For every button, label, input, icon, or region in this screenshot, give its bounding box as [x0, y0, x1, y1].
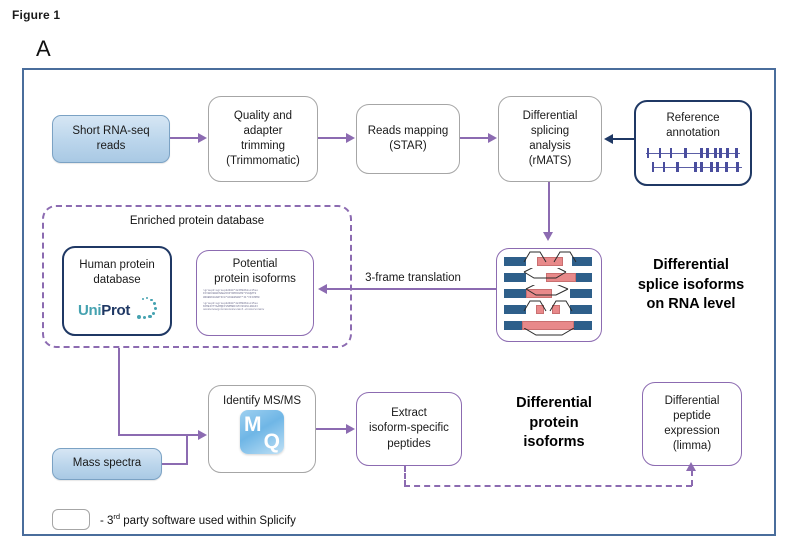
- splice-row-4: [504, 305, 592, 314]
- node-potential-protein-isoforms-label: Potential protein isoforms: [210, 251, 300, 287]
- edge-reads-to-trimming-arrowhead: [198, 133, 207, 143]
- edge-extract-to-limma-horizontal: [404, 485, 692, 487]
- splice-row-1: [504, 257, 592, 266]
- edge-three-frame-translation-arrowhead: [318, 284, 327, 294]
- edge-identify-to-extract-arrowhead: [346, 424, 355, 434]
- node-human-protein-database-label: Human protein database: [75, 248, 158, 288]
- uniprot-logo-dots: [131, 297, 157, 323]
- legend-text: - 3rd party software used within Splicif…: [100, 512, 296, 527]
- splice-row-2: [504, 273, 592, 282]
- maxquant-logo-q: Q: [264, 431, 280, 452]
- edge-mapping-to-splicing-arrowhead: [488, 133, 497, 143]
- node-extract-isoform-specific-peptides-label: Extract isoform-specific peptides: [365, 406, 453, 452]
- edge-identify-to-extract: [316, 428, 348, 430]
- gene-track-icon-1: [646, 148, 740, 158]
- node-reads-mapping-label: Reads mapping (STAR): [364, 124, 453, 154]
- edge-mass-spectra-vertical: [186, 434, 188, 465]
- edge-trimming-to-mapping-arrowhead: [346, 133, 355, 143]
- node-differential-splicing-analysis-label: Differential splicing analysis (rMATS): [519, 109, 582, 170]
- edge-mass-spectra-horizontal: [162, 463, 188, 465]
- node-differential-peptide-expression[interactable]: Differential peptide expression (limma): [642, 382, 742, 466]
- node-quality-adapter-trimming-label: Quality and adapter trimming (Trimmomati…: [222, 109, 304, 170]
- uniprot-logo-prot: Prot: [101, 302, 130, 319]
- node-identify-ms-ms-label: Identify MS/MS: [219, 386, 305, 409]
- node-short-rna-seq-reads-label: Short RNA-seq reads: [68, 124, 153, 154]
- callout-differential-protein-isoforms: Differential protein isoforms: [484, 394, 624, 453]
- figure-title: Figure 1: [12, 8, 60, 22]
- legend-swatch-box: [52, 509, 90, 530]
- splice-isoform-diagram: [504, 256, 592, 332]
- callout-differential-splice-isoforms-rna: Differential splice isoforms on RNA leve…: [616, 256, 766, 315]
- edge-three-frame-translation: [322, 288, 498, 290]
- edge-splicing-to-isoforms: [548, 182, 550, 234]
- uniprot-logo-uni: Uni: [78, 302, 101, 319]
- node-extract-isoform-specific-peptides[interactable]: Extract isoform-specific peptides: [356, 392, 462, 466]
- gene-track-icon-2: [652, 162, 742, 172]
- edge-database-to-identify-vertical: [118, 348, 120, 436]
- node-short-rna-seq-reads[interactable]: Short RNA-seq reads: [52, 115, 170, 163]
- edge-reads-to-trimming: [170, 137, 200, 139]
- node-reads-mapping[interactable]: Reads mapping (STAR): [356, 104, 460, 174]
- edge-trimming-to-mapping: [318, 137, 348, 139]
- node-differential-splicing-analysis[interactable]: Differential splicing analysis (rMATS): [498, 96, 602, 182]
- maxquant-logo-m: M: [244, 414, 262, 435]
- node-reference-annotation-label: Reference annotation: [662, 102, 724, 141]
- node-mass-spectra[interactable]: Mass spectra: [52, 448, 162, 480]
- node-differential-peptide-expression-label: Differential peptide expression (limma): [660, 394, 724, 455]
- edge-extract-to-limma-vertical-start: [404, 466, 406, 486]
- enriched-protein-database-title: Enriched protein database: [42, 215, 352, 227]
- edge-extract-to-limma-vertical-end: [691, 470, 693, 486]
- uniprot-logo: Uni Prot: [78, 297, 157, 323]
- edge-extract-to-limma-arrowhead: [686, 462, 696, 471]
- edge-reference-to-splicing-arrowhead: [604, 134, 613, 144]
- fasta-sequence-placeholder: >group1>sgroup22400*42JM02%1sc15se FFVGK…: [196, 289, 314, 333]
- edge-mapping-to-splicing: [460, 137, 490, 139]
- edge-splicing-to-isoforms-arrowhead: [543, 232, 553, 241]
- maxquant-logo: M Q: [240, 410, 284, 454]
- edge-label-three-frame-translation: 3-frame translation: [338, 272, 488, 284]
- edge-database-to-identify-arrowhead: [198, 430, 207, 440]
- panel-letter-a: A: [36, 36, 51, 62]
- splice-row-3: [504, 289, 592, 298]
- splice-row-5: [504, 321, 592, 330]
- node-reference-annotation[interactable]: Reference annotation: [634, 100, 752, 186]
- node-quality-adapter-trimming[interactable]: Quality and adapter trimming (Trimmomati…: [208, 96, 318, 182]
- node-mass-spectra-label: Mass spectra: [69, 456, 145, 471]
